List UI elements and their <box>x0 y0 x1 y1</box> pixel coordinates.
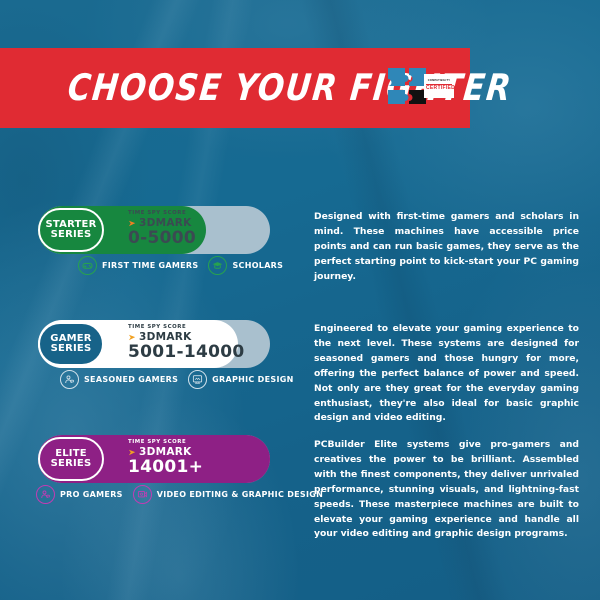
score-block: TIME SPY SCORE 3DMARK 14001+ <box>128 440 203 476</box>
score-label: TIME SPY SCORE <box>128 211 196 216</box>
score-block: TIME SPY SCORE 3DMARK 5001-14000 <box>128 325 245 361</box>
tag-label: PRO GAMERS <box>60 490 123 499</box>
tier-badge-line2: SERIES <box>51 230 92 240</box>
certification-badge: COMPATIBILITY CERTIFIED <box>424 74 454 98</box>
score-block: TIME SPY SCORE 3DMARK 0-5000 <box>128 211 196 247</box>
tier-badge-line2: SERIES <box>51 344 92 354</box>
design-monitor-icon <box>188 370 207 389</box>
tag-label: SEASONED GAMERS <box>84 375 178 384</box>
pro-gamer-icon <box>36 485 55 504</box>
tag-video-editing-graphic-design[interactable]: VIDEO EDITING & GRAPHIC DESIGN <box>133 485 323 504</box>
tag-first-time-gamers[interactable]: FIRST TIME GAMERS <box>78 256 198 275</box>
score-label: TIME SPY SCORE <box>128 440 203 445</box>
tier-badge-starter[interactable]: STARTER SERIES <box>38 208 104 252</box>
tag-seasoned-gamers[interactable]: SEASONED GAMERS <box>60 370 178 389</box>
tier-badge-elite[interactable]: ELITE SERIES <box>38 437 104 481</box>
tag-scholars[interactable]: SCHOLARS <box>208 256 283 275</box>
video-editing-icon <box>133 485 152 504</box>
tag-row: FIRST TIME GAMERS SCHOLARS <box>78 256 283 275</box>
tag-label: GRAPHIC DESIGN <box>212 375 293 384</box>
poster-page: CHOOSE YOUR FIGHTER COMPATIBILITY CERTIF… <box>0 0 600 600</box>
3dmark-logo-icon <box>128 333 137 342</box>
gamepad-icon <box>78 256 97 275</box>
score-value: 0-5000 <box>128 230 196 247</box>
score-value: 5001-14000 <box>128 344 245 361</box>
tag-graphic-design[interactable]: GRAPHIC DESIGN <box>188 370 293 389</box>
tag-row: SEASONED GAMERS GRAPHIC DESIGN <box>60 370 294 389</box>
graduation-cap-icon <box>208 256 227 275</box>
tier-description-elite: PCBuilder Elite systems give pro-gamers … <box>314 438 579 542</box>
3dmark-logo-icon <box>128 219 137 228</box>
tier-description-gamer: Engineered to elevate your gaming experi… <box>314 322 579 426</box>
puzzle-pieces-icon <box>386 66 428 106</box>
tier-badge-gamer[interactable]: GAMER SERIES <box>38 322 104 366</box>
certification-top-text: COMPATIBILITY <box>426 80 452 83</box>
tag-label: SCHOLARS <box>232 261 283 270</box>
tag-pro-gamers[interactable]: PRO GAMERS <box>36 485 123 504</box>
tier-badge-line2: SERIES <box>51 459 92 469</box>
score-label: TIME SPY SCORE <box>128 325 245 330</box>
certification-main-text: CERTIFIED <box>426 86 452 92</box>
tag-row: PRO GAMERS VIDEO EDITING & GRAPHIC DESIG… <box>36 485 323 504</box>
gamer-person-icon <box>60 370 79 389</box>
3dmark-logo-icon <box>128 448 137 457</box>
tag-label: VIDEO EDITING & GRAPHIC DESIGN <box>157 490 323 499</box>
tier-description-starter: Designed with first-time gamers and scho… <box>314 210 579 285</box>
tag-label: FIRST TIME GAMERS <box>102 261 198 270</box>
score-value: 14001+ <box>128 459 203 476</box>
